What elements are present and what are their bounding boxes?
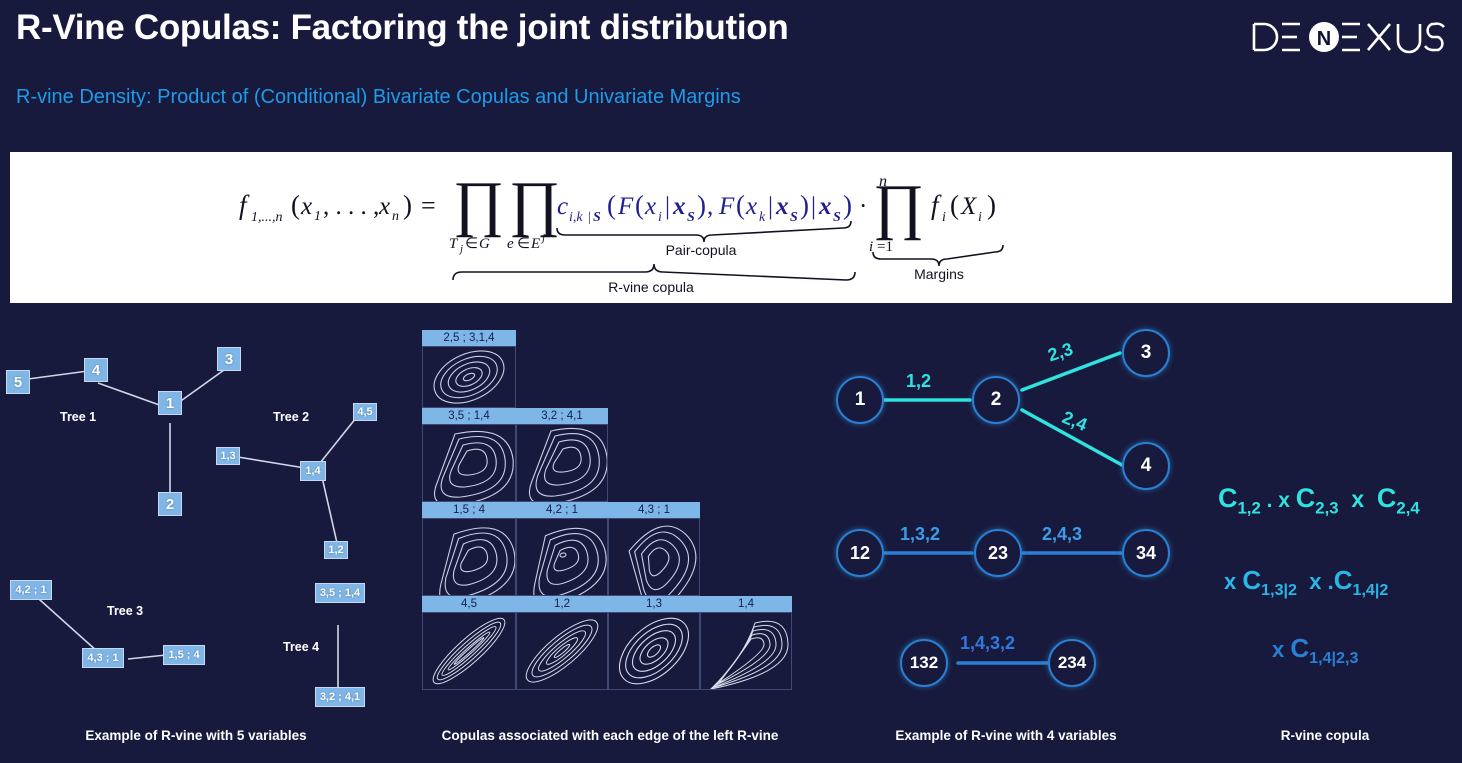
svg-text:x: x [378,193,390,220]
page-title: R-Vine Copulas: Factoring the joint dist… [16,8,788,48]
svg-text:G: G [479,236,490,252]
svg-text:S: S [833,210,841,225]
svg-text:): ) [843,190,852,220]
panel-rvine-4-variables: 1 2 3 4 1,2 2,3 2,4 12 23 34 1,3,2 2,4,3… [810,315,1202,715]
contour-ellipse [609,613,699,689]
vine5-node-14: 1,4 [300,461,326,481]
product-line-2: x C1,3|2 x .C1,4|2 [1224,565,1388,600]
svg-text:∏: ∏ [873,173,924,241]
svg-text:S: S [687,210,695,225]
svg-text:F: F [718,193,735,220]
vine4-node-4: 4 [1122,442,1170,490]
svg-text:E: E [530,236,540,252]
svg-text:T: T [449,236,459,252]
panel-rvine-5-variables: 5 4 3 1 2 Tree 1 1,3 4,5 1,4 1,2 Tree 2 … [0,315,410,715]
svg-text:∏: ∏ [509,170,560,238]
product-term-c132: C1,3|2 [1242,565,1297,595]
vine5-tree-label-1: Tree 1 [60,410,96,424]
svg-text:c: c [557,193,568,220]
product-term-c142: C1,4|2 [1334,565,1389,595]
product-line-3: x C1,4|2,3 [1272,633,1358,668]
svg-text:): ) [403,190,412,220]
contour-teardrop [423,519,515,595]
vine5-node-45: 4,5 [353,403,377,421]
vine4-edge-1-4-3-2: 1,4,3,2 [960,633,1015,654]
formula-panel: f 1,...,n ( x 1 , . . . , x n ) = ∏ T j … [10,152,1452,303]
vine4-node-132: 132 [900,639,948,687]
vine5-node-154: 1,5 ; 4 [163,645,205,665]
svg-text:S: S [593,210,601,225]
copula-header-2-5-3-1-4: 2,5 ; 3,1,4 [422,330,516,346]
svg-text:(: ( [607,190,616,220]
svg-text:k: k [759,210,766,225]
contour-teardrop [609,519,699,595]
svg-text:|: | [665,193,670,220]
svg-text:i: i [942,210,946,225]
svg-text:F: F [617,193,634,220]
copula-header-4-3-1: 4,3 ; 1 [608,502,700,518]
copula-cell-4-3-1 [608,518,700,596]
page-subtitle: R-vine Density: Product of (Conditional)… [16,86,741,109]
vine4-node-3: 3 [1122,329,1170,377]
svg-text:f: f [239,190,250,220]
vine4-node-234: 234 [1048,639,1096,687]
copula-cell-3-5-1-4 [422,424,516,502]
contour-teardrop [517,519,607,595]
caption-copula-grid: Copulas associated with each edge of the… [412,728,808,748]
svg-text:(: ( [291,190,300,220]
svg-text:X: X [960,193,978,220]
svg-text:=: = [421,191,436,220]
vine4-node-2: 2 [972,376,1020,424]
svg-text:n: n [392,209,399,224]
vine5-tree-label-2: Tree 2 [273,410,309,424]
svg-text:1,...,n: 1,...,n [251,210,283,225]
vine4-edge-2-4-3: 2,4,3 [1042,524,1082,545]
svg-text:f: f [931,190,942,220]
slide-root: R-Vine Copulas: Factoring the joint dist… [0,0,1462,763]
svg-text:S: S [790,210,798,225]
product-line-1: C1,2 . x C2,3 x C2,4 [1218,483,1420,518]
denexus-logo: N [1248,17,1448,57]
vine5-node-421: 4,2 ; 1 [10,580,52,600]
svg-text:): ) [697,190,706,220]
contour-narrow [423,613,515,689]
copula-header-1-5-4: 1,5 ; 4 [422,502,516,518]
copula-header-3-2-4-1: 3,2 ; 4,1 [516,408,608,424]
brace-label-margins: Margins [914,266,964,282]
svg-text:x: x [672,193,686,220]
contour-narrow [517,613,607,689]
svg-text:(: ( [736,190,745,220]
copula-cell-4-2-1 [516,518,608,596]
vine5-edges [0,315,410,715]
svg-text:(: ( [950,190,959,220]
svg-text:=1: =1 [877,239,893,255]
svg-text:i: i [658,210,662,225]
svg-text:,: , [707,193,713,220]
panel-rvine-copula-product: C1,2 . x C2,3 x C2,4 x C1,3|2 x .C1,4|2 … [1200,315,1462,715]
copula-header-1-2: 1,2 [516,596,608,612]
copula-header-3-5-1-4: 3,5 ; 1,4 [422,408,516,424]
svg-text:x: x [745,193,757,220]
product-term-c24: C2,4 [1377,483,1420,513]
svg-text:1: 1 [314,209,321,224]
copula-cell-2-5-3-1-4 [422,346,516,408]
vine5-node-4: 4 [84,358,108,382]
product-op-5: x [1272,637,1290,662]
vine4-node-34: 34 [1122,529,1170,577]
vine5-node-3514: 3,5 ; 1,4 [315,583,365,603]
svg-text:|: | [811,193,816,220]
copula-header-4-5: 4,5 [422,596,516,612]
contour-ellipse [423,347,515,407]
vine5-tree-label-3: Tree 3 [107,604,143,618]
copula-cell-1-2 [516,612,608,690]
vine5-node-431: 4,3 ; 1 [82,648,124,668]
copula-header-1-3: 1,3 [608,596,700,612]
caption-vine5: Example of R-vine with 5 variables [0,728,392,748]
product-term-c12: C1,2 [1218,483,1261,513]
panel-copula-grid: 2,5 ; 3,1,4 3,5 ; 1,4 3,2 ; 4,1 [412,315,808,715]
product-op-2: x [1339,486,1377,512]
svg-text:(: ( [635,190,644,220]
svg-text:x: x [644,193,656,220]
svg-text:e: e [507,236,514,252]
svg-text:x: x [775,193,789,220]
logo-icon: N [1248,17,1448,57]
contour-skewed [701,613,791,689]
vine4-node-23: 23 [974,529,1022,577]
formula-image: f 1,...,n ( x 1 , . . . , x n ) = ∏ T j … [10,152,1452,303]
product-op-3: x [1224,569,1242,594]
copula-header-4-2-1: 4,2 ; 1 [516,502,608,518]
svg-text:i,k: i,k [569,210,583,225]
vine5-node-12: 1,2 [324,541,348,559]
logo-letter-n: N [1317,28,1331,50]
vine5-tree-label-4: Tree 4 [283,640,319,654]
svg-text:|: | [768,193,773,220]
product-term-c23: C2,3 [1296,483,1339,513]
vine5-node-3241: 3,2 ; 4,1 [315,687,365,707]
svg-text:x: x [818,193,832,220]
vine4-edge-1-3-2: 1,3,2 [900,524,940,545]
contour-teardrop [517,425,607,501]
svg-text:|: | [588,210,591,225]
copula-cell-4-5 [422,612,516,690]
formula-dot: · [859,193,867,220]
brace-label-rvine-copula: R-vine copula [608,279,694,295]
vine5-node-5: 5 [6,370,30,394]
contour-teardrop [423,425,515,501]
product-op-4: x . [1297,569,1334,594]
caption-vine4: Example of R-vine with 4 variables [810,728,1202,748]
vine5-node-1: 1 [158,391,182,415]
copula-cell-1-4 [700,612,792,690]
svg-text:, . . . ,: , . . . , [323,193,379,220]
svg-text:i: i [978,210,982,225]
vine4-edge-1-2: 1,2 [906,371,931,392]
product-op-1: . x [1261,489,1296,512]
svg-text:∈: ∈ [465,236,478,252]
svg-text:j: j [458,243,463,255]
copula-cell-3-2-4-1 [516,424,608,502]
vine4-node-12: 12 [836,529,884,577]
svg-text:): ) [800,190,809,220]
copula-header-1-4: 1,4 [700,596,792,612]
svg-text:∈: ∈ [517,236,530,252]
svg-text:x: x [300,193,312,220]
vine5-node-2: 2 [158,492,182,516]
copula-cell-1-3 [608,612,700,690]
product-term-c14123: C1,4|2,3 [1290,633,1358,663]
vine4-node-1: 1 [836,376,884,424]
vine5-node-13: 1,3 [216,447,240,465]
copula-cell-1-5-4 [422,518,516,596]
caption-product: R-vine copula [1200,728,1450,748]
svg-text:): ) [987,190,996,220]
svg-text:∏: ∏ [453,170,504,238]
brace-label-pair-copula: Pair-copula [666,242,737,258]
vine5-node-3: 3 [217,347,241,371]
